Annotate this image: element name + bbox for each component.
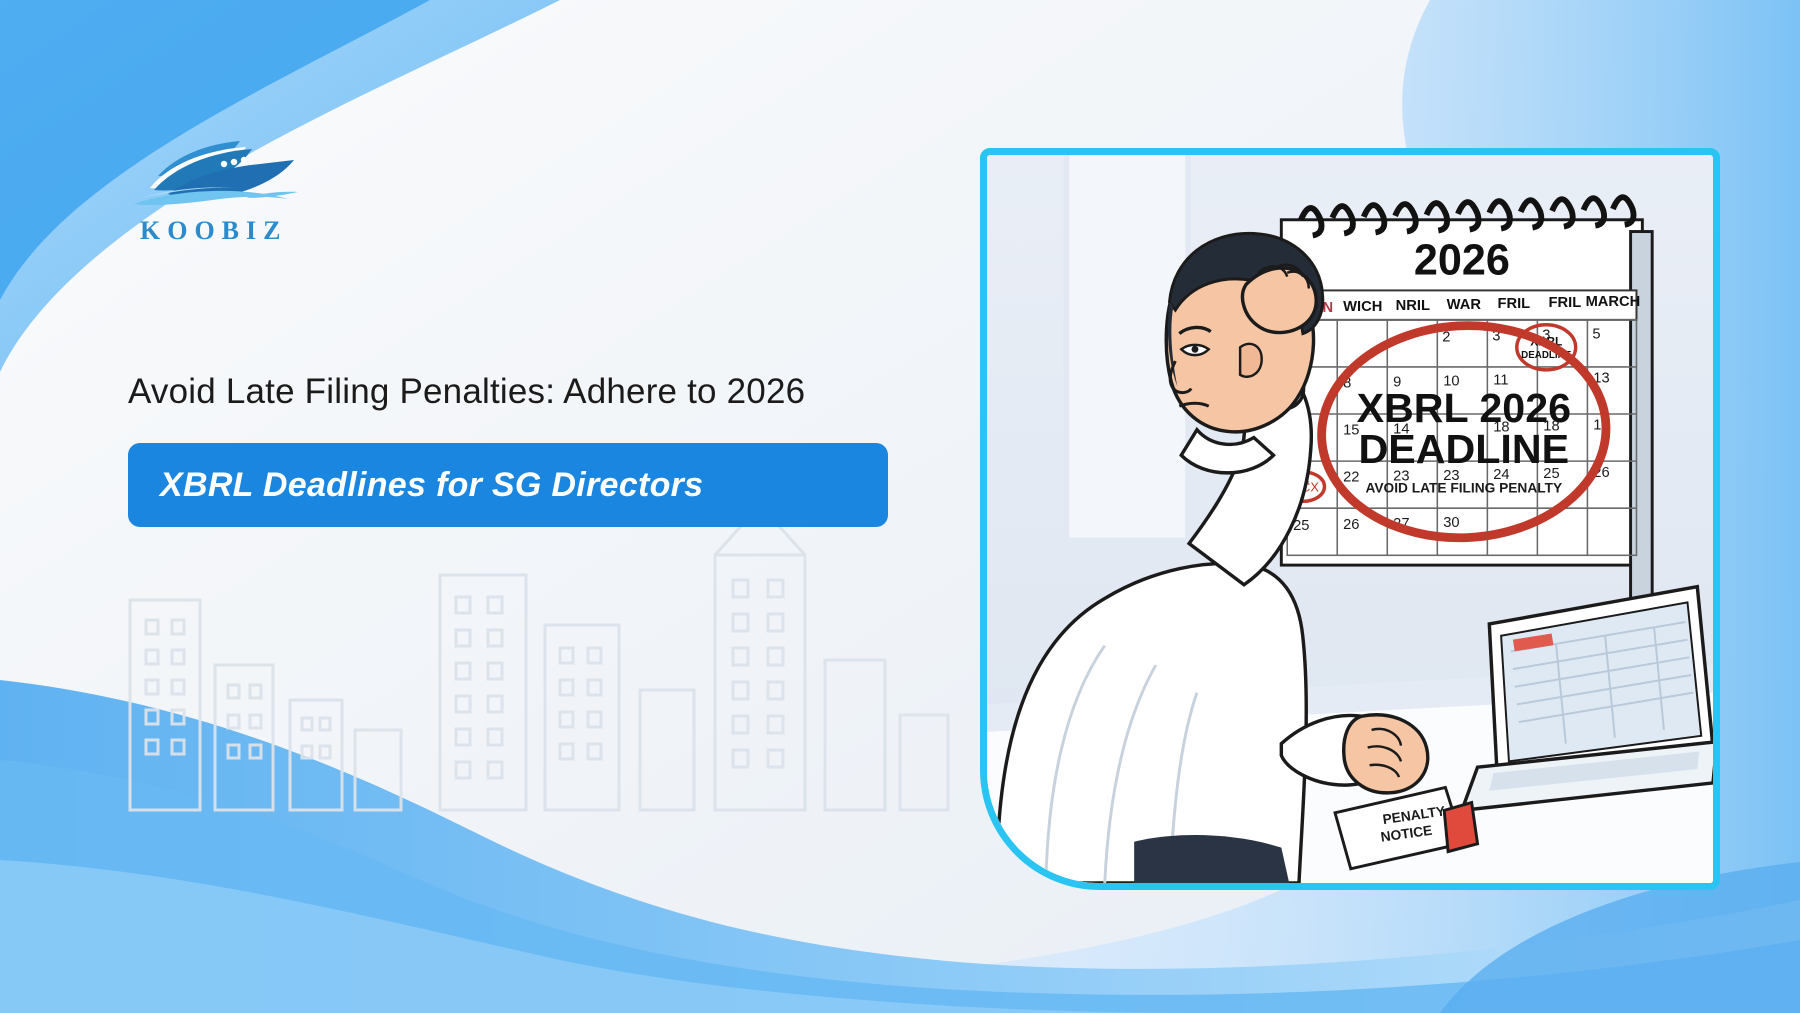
- calendar-overlay-caption: AVOID LATE FILING PENALTY: [1365, 481, 1562, 496]
- svg-text:22: 22: [1343, 470, 1359, 486]
- banner-canvas: KOOBIZ Avoid Late Filing Penalties: Adhe…: [0, 0, 1800, 1013]
- illustration-scene: 2026 SUEN WICH NRIL WAR FRIL FRIL MARCH: [987, 155, 1713, 883]
- calendar-overlay-title-2: DEADLINE: [1359, 426, 1570, 472]
- svg-text:30: 30: [1443, 515, 1459, 531]
- calendar-dow-2: NRIL: [1396, 298, 1430, 314]
- calendar-dow-6: MARCH: [1586, 294, 1641, 310]
- subtitle-banner-text: XBRL Deadlines for SG Directors: [128, 466, 703, 505]
- calendar-dow-3: WAR: [1447, 297, 1482, 313]
- calendar-overlay-title-1: XBRL 2026: [1357, 385, 1571, 431]
- brand-logo: KOOBIZ: [128, 132, 358, 262]
- subtitle-banner: XBRL Deadlines for SG Directors: [128, 443, 888, 527]
- calendar-year: 2026: [1414, 237, 1510, 285]
- brand-name: KOOBIZ: [128, 216, 358, 246]
- hero-illustration: 2026 SUEN WICH NRIL WAR FRIL FRIL MARCH: [980, 148, 1720, 890]
- page-title: Avoid Late Filing Penalties: Adhere to 2…: [128, 372, 1028, 412]
- calendar-dow-4: FRIL: [1498, 296, 1531, 312]
- ship-logo-icon: [128, 132, 318, 210]
- calendar-dow-5: FRIL: [1549, 295, 1582, 311]
- svg-text:26: 26: [1343, 517, 1359, 533]
- calendar-dow-1: WICH: [1343, 299, 1382, 315]
- svg-text:2: 2: [1442, 329, 1450, 345]
- svg-text:5: 5: [1592, 326, 1600, 342]
